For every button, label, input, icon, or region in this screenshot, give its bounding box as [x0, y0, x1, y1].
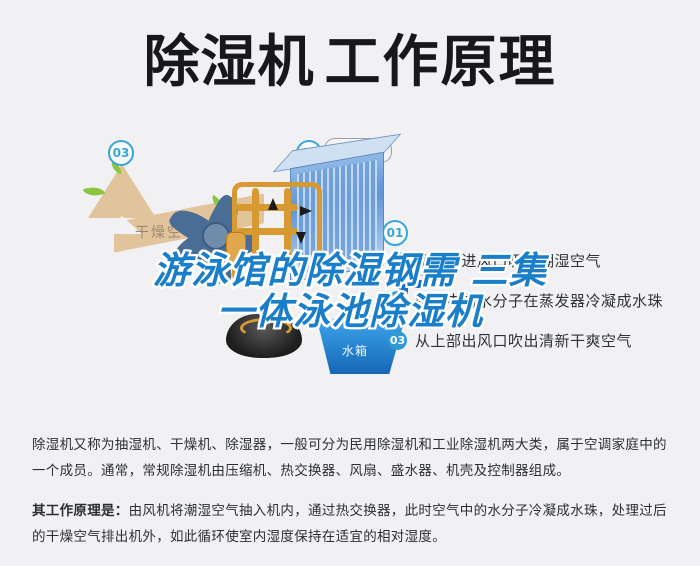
- callout-number-dry: 03: [108, 140, 134, 166]
- step-item: 03 从上部出风口吹出清新干爽空气: [388, 330, 688, 351]
- step-badge: 01: [388, 251, 407, 270]
- flow-arrow-icon: [300, 206, 312, 216]
- infographic-page: 除湿机工作原理 03 干燥空气 02 热交换器 01 潮湿空气: [0, 0, 700, 566]
- body-copy: 除湿机又称为抽湿机、干燥机、除湿器，一般可分为民用除湿机和工业除湿机两大类，属于…: [32, 418, 672, 564]
- valve-icon: [226, 232, 246, 264]
- step-item: 02 空气中的水分子在蒸发器冷凝成水珠: [388, 290, 688, 311]
- compressor-icon: [226, 314, 302, 358]
- step-item: 01 从下部进风口吸入潮湿空气: [388, 250, 688, 271]
- step-text: 空气中的水分子在蒸发器冷凝成水珠: [415, 290, 663, 311]
- flow-arrow-icon: [296, 232, 306, 244]
- dehumidifier-machine-graphic: 水箱: [140, 146, 430, 376]
- paragraph-principle: 其工作原理是：由风机将潮湿空气抽入机内，通过热交换器，此时空气中的水分子冷凝成水…: [32, 498, 672, 551]
- paragraph-overview: 除湿机又称为抽湿机、干燥机、除湿器，一般可分为民用除湿机和工业除湿机两大类，属于…: [32, 432, 672, 485]
- title-part-two: 工作原理: [325, 30, 557, 95]
- label-water-tank: 水箱: [342, 342, 368, 359]
- step-badge: 03: [388, 331, 407, 350]
- step-badge: 02: [388, 291, 407, 310]
- step-list: 01 从下部进风口吸入潮湿空气 02 空气中的水分子在蒸发器冷凝成水珠 03 从…: [388, 250, 688, 370]
- flow-arrow-icon: [268, 198, 278, 210]
- title-text: 除湿机工作原理: [144, 35, 557, 91]
- title-part-one: 除湿机: [144, 30, 315, 95]
- step-text: 从上部出风口吹出清新干爽空气: [415, 330, 632, 351]
- page-title: 除湿机工作原理: [0, 22, 700, 104]
- paragraph-principle-lead: 其工作原理是：: [32, 503, 129, 519]
- step-text: 从下部进风口吸入潮湿空气: [415, 250, 601, 271]
- diagram-stage: 03 干燥空气 02 热交换器 01 潮湿空气: [0, 118, 700, 398]
